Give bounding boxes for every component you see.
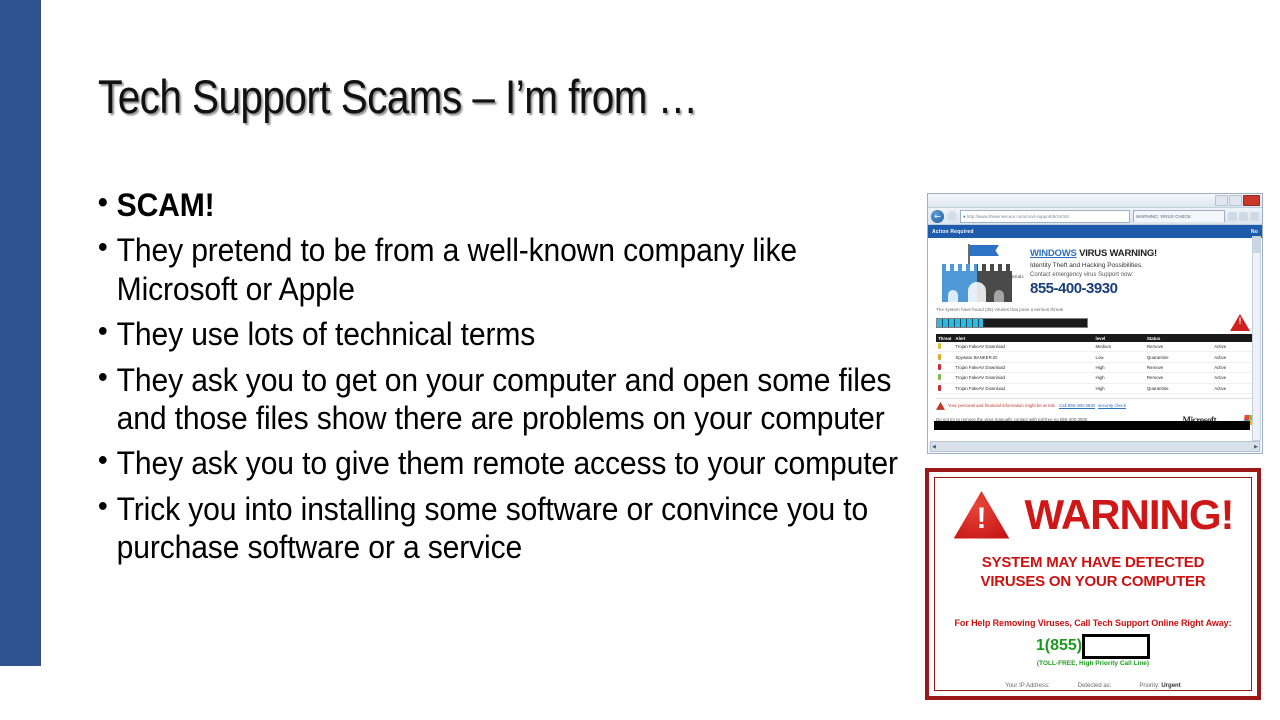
bullet-glyph: • xyxy=(98,185,108,221)
fake-browser-screenshot: ← ● http://www.thewinsecure.com/mod-supp… xyxy=(927,193,1263,454)
security-essentials-label: Security Essentials xyxy=(982,274,1024,280)
cell-alert: Spyware BANKER.ID xyxy=(953,352,1093,362)
table-row: Trojan FakeAV Download High Quarantine A… xyxy=(936,383,1254,393)
small-warning-triangle-icon xyxy=(936,402,945,410)
home-icon xyxy=(1228,212,1237,221)
cell-action: Quarantine xyxy=(1145,383,1212,393)
col-threat: Threat xyxy=(936,334,953,342)
table-row: Trojan FakeAV Download Medium Remove Act… xyxy=(936,342,1254,352)
cell-alert: Trojan FakeAV Download xyxy=(953,373,1093,383)
warning-text-block: WINDOWS VIRUS WARNING! Identity Theft an… xyxy=(1030,244,1254,297)
bullet-glyph: • xyxy=(98,230,108,266)
cell-level: High xyxy=(1094,383,1145,393)
bullet-glyph: • xyxy=(98,489,108,525)
cell-action: Quarantine xyxy=(1145,352,1212,362)
cell-level: High xyxy=(1094,362,1145,372)
horizontal-scrollbar[interactable]: ◀ ▶ xyxy=(930,441,1260,452)
browser-tab-label: WARNING: VIRUS CHECK xyxy=(1136,214,1191,219)
list-item: • SCAM! xyxy=(96,186,906,224)
exclamation-triangle-icon: ! xyxy=(953,490,1011,540)
contact-support-line: Contact emergency virus Support now: xyxy=(1030,272,1254,278)
security-essentials-castle-icon: Security Essentials xyxy=(936,244,1022,302)
action-required-label: Action Required xyxy=(932,229,974,235)
cell-status: Active xyxy=(1212,373,1254,383)
list-item: • They ask you to give them remote acces… xyxy=(96,444,906,482)
browser-nav-bar: ← ● http://www.thewinsecure.com/mod-supp… xyxy=(928,208,1262,225)
scan-progress-bar xyxy=(936,318,1088,328)
close-icon xyxy=(1243,195,1260,206)
headline-rest: VIRUS WARNING! xyxy=(1077,248,1157,259)
action-bar-right-label: No xyxy=(1251,229,1258,235)
scroll-left-arrow-icon[interactable]: ◀ xyxy=(932,444,936,450)
call-link[interactable]: Call 855-400-3930 xyxy=(1059,403,1095,408)
col-extra xyxy=(1212,334,1254,342)
col-alert: Alert xyxy=(953,334,1093,342)
threat-icon xyxy=(936,383,953,393)
bullet-text: They ask you to get on your computer and… xyxy=(117,362,892,436)
cell-level: High xyxy=(1094,373,1145,383)
bullet-text: They use lots of technical terms xyxy=(117,316,535,352)
bullet-list: • SCAM! • They pretend to be from a well… xyxy=(96,186,906,574)
forward-arrow-icon xyxy=(947,211,957,221)
cell-action: Remove xyxy=(1145,373,1212,383)
address-bar: ● http://www.thewinsecure.com/mod-suppor… xyxy=(960,210,1130,223)
vertical-scrollbar[interactable] xyxy=(1252,236,1261,441)
minimize-icon xyxy=(1215,195,1228,206)
address-bar-text: http://www.thewinsecure.com/mod-support/… xyxy=(967,214,1069,219)
slide-title: Tech Support Scams – I’m from … xyxy=(98,72,786,123)
bullet-glyph: • xyxy=(98,314,108,350)
table-row: Spyware BANKER.ID Low Quarantine Active xyxy=(936,352,1254,362)
support-phone-number: 855-400-3930 xyxy=(1030,280,1254,297)
gear-icon xyxy=(1250,212,1259,221)
window-controls xyxy=(1215,195,1260,206)
risk-warning-line: Your personal and financial information … xyxy=(936,398,1254,410)
table-header-row: Threat Alert level Status xyxy=(936,334,1254,342)
bullet-glyph: • xyxy=(98,360,108,396)
threat-icon xyxy=(936,342,953,352)
fake-warning-page: Security Essentials WINDOWS VIRUS WARNIN… xyxy=(928,238,1262,442)
scan-result-text: The system have found (35) viruses that … xyxy=(936,307,1254,312)
bullet-text: They ask you to give them remote access … xyxy=(117,445,898,481)
threat-icon xyxy=(936,362,953,372)
list-item: • Trick you into installing some softwar… xyxy=(96,490,906,567)
bullet-text: SCAM! xyxy=(117,187,215,223)
cell-alert: Trojan FakeAV Download xyxy=(953,383,1093,393)
cell-level: Medium xyxy=(1094,342,1145,352)
slide-canvas: Tech Support Scams – I’m from … • SCAM! … xyxy=(0,0,1280,720)
list-item: • They pretend to be from a well-known c… xyxy=(96,231,906,308)
maximize-icon xyxy=(1229,195,1242,206)
threat-icon xyxy=(936,373,953,383)
cell-alert: Trojan FakeAV Download xyxy=(953,342,1093,352)
table-row: Trojan FakeAV Download High Remove Activ… xyxy=(936,373,1254,383)
scan-progress-row xyxy=(936,314,1254,331)
table-row: Trojan FakeAV Download High Remove Activ… xyxy=(936,362,1254,372)
list-item: • They ask you to get on your computer a… xyxy=(96,361,906,438)
cell-status: Active xyxy=(1212,362,1254,372)
back-arrow-icon: ← xyxy=(931,210,944,223)
list-item: • They use lots of technical terms xyxy=(96,315,906,353)
cell-status: Active xyxy=(1212,383,1254,393)
bullet-glyph: • xyxy=(98,443,108,479)
scroll-right-arrow-icon[interactable]: ▶ xyxy=(1254,444,1258,450)
cell-action: Remove xyxy=(1145,362,1212,372)
action-required-bar: Action Required No xyxy=(928,225,1262,238)
cell-level: Low xyxy=(1094,352,1145,362)
browser-tab: WARNING: VIRUS CHECK xyxy=(1133,210,1225,222)
virus-warning-poster: ! WARNING! SYSTEM MAY HAVE DETECTED VIRU… xyxy=(925,468,1261,700)
black-redaction-bar xyxy=(934,421,1250,430)
security-check-link[interactable]: security check xyxy=(1098,403,1126,408)
favorites-icon xyxy=(1239,212,1248,221)
warning-header: Security Essentials WINDOWS VIRUS WARNIN… xyxy=(936,244,1254,302)
cell-status: Active xyxy=(1212,352,1254,362)
warning-triangle-icon xyxy=(1230,314,1250,331)
cell-action: Remove xyxy=(1145,342,1212,352)
left-accent-bar xyxy=(0,0,41,666)
identity-theft-line: Identity Theft and Hacking Possibilities… xyxy=(1030,262,1254,269)
cell-alert: Trojan FakeAV Download xyxy=(953,362,1093,372)
browser-title-bar xyxy=(928,194,1262,208)
risk-text: Your personal and financial information … xyxy=(948,403,1056,408)
col-level: level xyxy=(1094,334,1145,342)
cell-status: Active xyxy=(1212,342,1254,352)
col-status: Status xyxy=(1145,334,1212,342)
windows-link[interactable]: WINDOWS xyxy=(1030,248,1077,259)
bullet-text: They pretend to be from a well-known com… xyxy=(117,232,797,306)
threat-table: Threat Alert level Status Trojan FakeAV … xyxy=(936,334,1254,394)
virus-warning-headline: WINDOWS VIRUS WARNING! xyxy=(1030,248,1254,259)
page-icon: ● xyxy=(963,214,966,219)
threat-icon xyxy=(936,352,953,362)
bullet-text: Trick you into installing some software … xyxy=(117,491,868,565)
browser-toolbar-icons xyxy=(1228,212,1259,221)
